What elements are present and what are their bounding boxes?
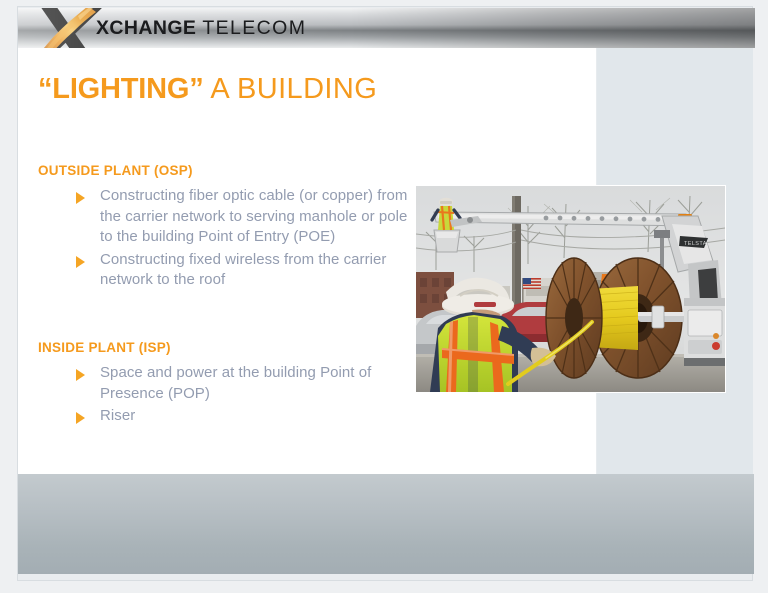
bullet-list-osp: Constructing fiber optic cable (or coppe… — [38, 186, 418, 291]
section-heading-osp: OUTSIDE PLANT (OSP) — [38, 162, 418, 180]
section-outside-plant: OUTSIDE PLANT (OSP) Constructing fiber o… — [38, 162, 418, 293]
slide-photo: TELSTA — [416, 186, 725, 392]
page-title: “LIGHTING” A BUILDING — [38, 72, 377, 106]
list-item-text: Space and power at the building Point of… — [100, 364, 371, 402]
triangle-bullet-icon — [76, 192, 85, 204]
brand-wordmark: XCHANGETELECOM — [96, 17, 306, 39]
brand-header-bar: XCHANGETELECOM — [18, 8, 755, 48]
slide-canvas: XCHANGETELECOM “LIGHTING” A BUILDING OUT… — [0, 0, 768, 593]
section-heading-isp: INSIDE PLANT (ISP) — [38, 339, 418, 357]
footer-band — [18, 474, 754, 574]
section-inside-plant: INSIDE PLANT (ISP) Space and power at th… — [38, 339, 418, 429]
bullet-list-isp: Space and power at the building Point of… — [38, 363, 418, 427]
triangle-bullet-icon — [76, 369, 85, 381]
list-item: Space and power at the building Point of… — [38, 363, 418, 404]
list-item: Constructing fiber optic cable (or coppe… — [38, 186, 418, 248]
brand-name-light: TELECOM — [202, 17, 306, 39]
list-item: Constructing fixed wireless from the car… — [38, 250, 418, 291]
xchange-x-logo-icon — [38, 8, 102, 48]
list-item-text: Riser — [100, 407, 135, 424]
list-item-text: Constructing fixed wireless from the car… — [100, 251, 386, 289]
page-title-quoted: “LIGHTING” — [38, 73, 204, 105]
triangle-bullet-icon — [76, 412, 85, 424]
photo-illustration: TELSTA — [416, 186, 725, 392]
page-title-rest: A BUILDING — [204, 73, 378, 105]
triangle-bullet-icon — [76, 256, 85, 268]
list-item-text: Constructing fiber optic cable (or coppe… — [100, 187, 407, 245]
brand-name-strong: XCHANGE — [96, 17, 196, 39]
list-item: Riser — [38, 406, 418, 427]
